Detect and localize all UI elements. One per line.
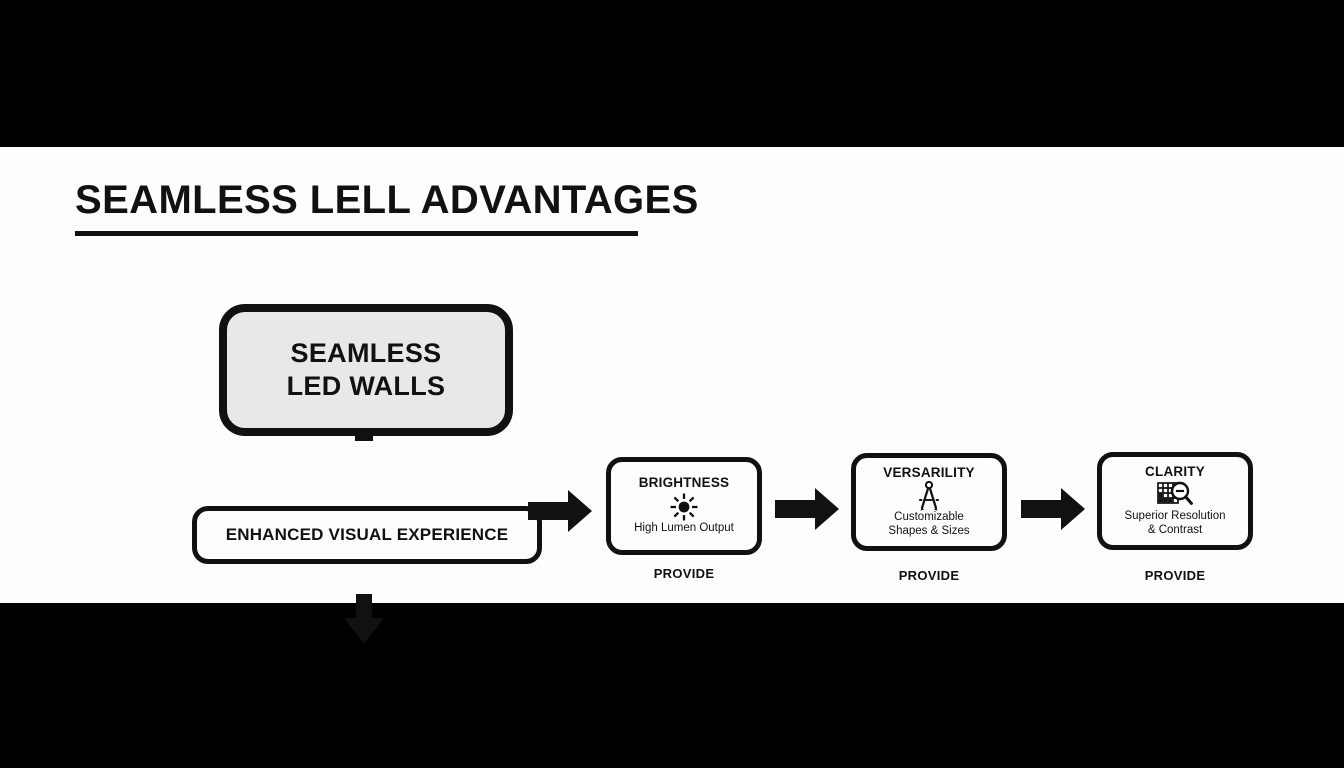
hero-line-2: LED WALLS bbox=[287, 370, 446, 403]
letterbox-bar-bottom bbox=[0, 603, 1344, 768]
compass-icon bbox=[916, 482, 942, 510]
card-versatility-description-line-2: Shapes & Sizes bbox=[888, 525, 969, 539]
card-versatility-description-line-1: Customizable bbox=[894, 511, 964, 525]
card-brightness-caption: PROVIDE bbox=[606, 566, 762, 581]
card-clarity[interactable]: CLARITY bbox=[1097, 452, 1253, 550]
card-clarity-description-line-2: & Contrast bbox=[1148, 524, 1202, 538]
card-brightness-title: BRIGHTNESS bbox=[639, 476, 730, 491]
letterbox-bar-top bbox=[0, 0, 1344, 147]
card-brightness[interactable]: BRIGHTNESS High Lumen Out bbox=[606, 457, 762, 555]
title-block: SEAMLESS LELL ADVANTAGES bbox=[75, 179, 640, 236]
arrow-right-icon bbox=[1021, 488, 1085, 530]
card-brightness-description: High Lumen Output bbox=[634, 522, 734, 536]
sun-icon bbox=[669, 493, 699, 521]
node-enhanced-visual-experience[interactable]: ENHANCED VISUAL EXPERIENCE bbox=[192, 506, 542, 564]
title-underline-rule bbox=[75, 231, 638, 236]
card-clarity-title: CLARITY bbox=[1145, 465, 1205, 480]
card-versatility[interactable]: VERSARILITY Customizable Shapes & Sizes bbox=[851, 453, 1007, 551]
diagram-canvas: SEAMLESS LELL ADVANTAGES SEAMLESS LED WA… bbox=[0, 147, 1344, 603]
grid-magnifier-icon bbox=[1156, 481, 1194, 509]
arrow-right-icon bbox=[775, 488, 839, 530]
card-clarity-caption: PROVIDE bbox=[1097, 568, 1253, 583]
card-versatility-title: VERSARILITY bbox=[883, 466, 974, 481]
card-versatility-caption: PROVIDE bbox=[851, 568, 1007, 583]
page-title: SEAMLESS LELL ADVANTAGES bbox=[75, 179, 640, 221]
slide-stage: SEAMLESS LELL ADVANTAGES SEAMLESS LED WA… bbox=[0, 0, 1344, 768]
card-clarity-description-line-1: Superior Resolution bbox=[1124, 510, 1225, 524]
arrow-down-icon bbox=[344, 594, 384, 644]
arrow-right-icon bbox=[528, 490, 592, 532]
node-seamless-led-walls[interactable]: SEAMLESS LED WALLS bbox=[219, 304, 513, 436]
hero-line-1: SEAMLESS bbox=[291, 337, 442, 370]
outcome-label: ENHANCED VISUAL EXPERIENCE bbox=[226, 525, 509, 545]
